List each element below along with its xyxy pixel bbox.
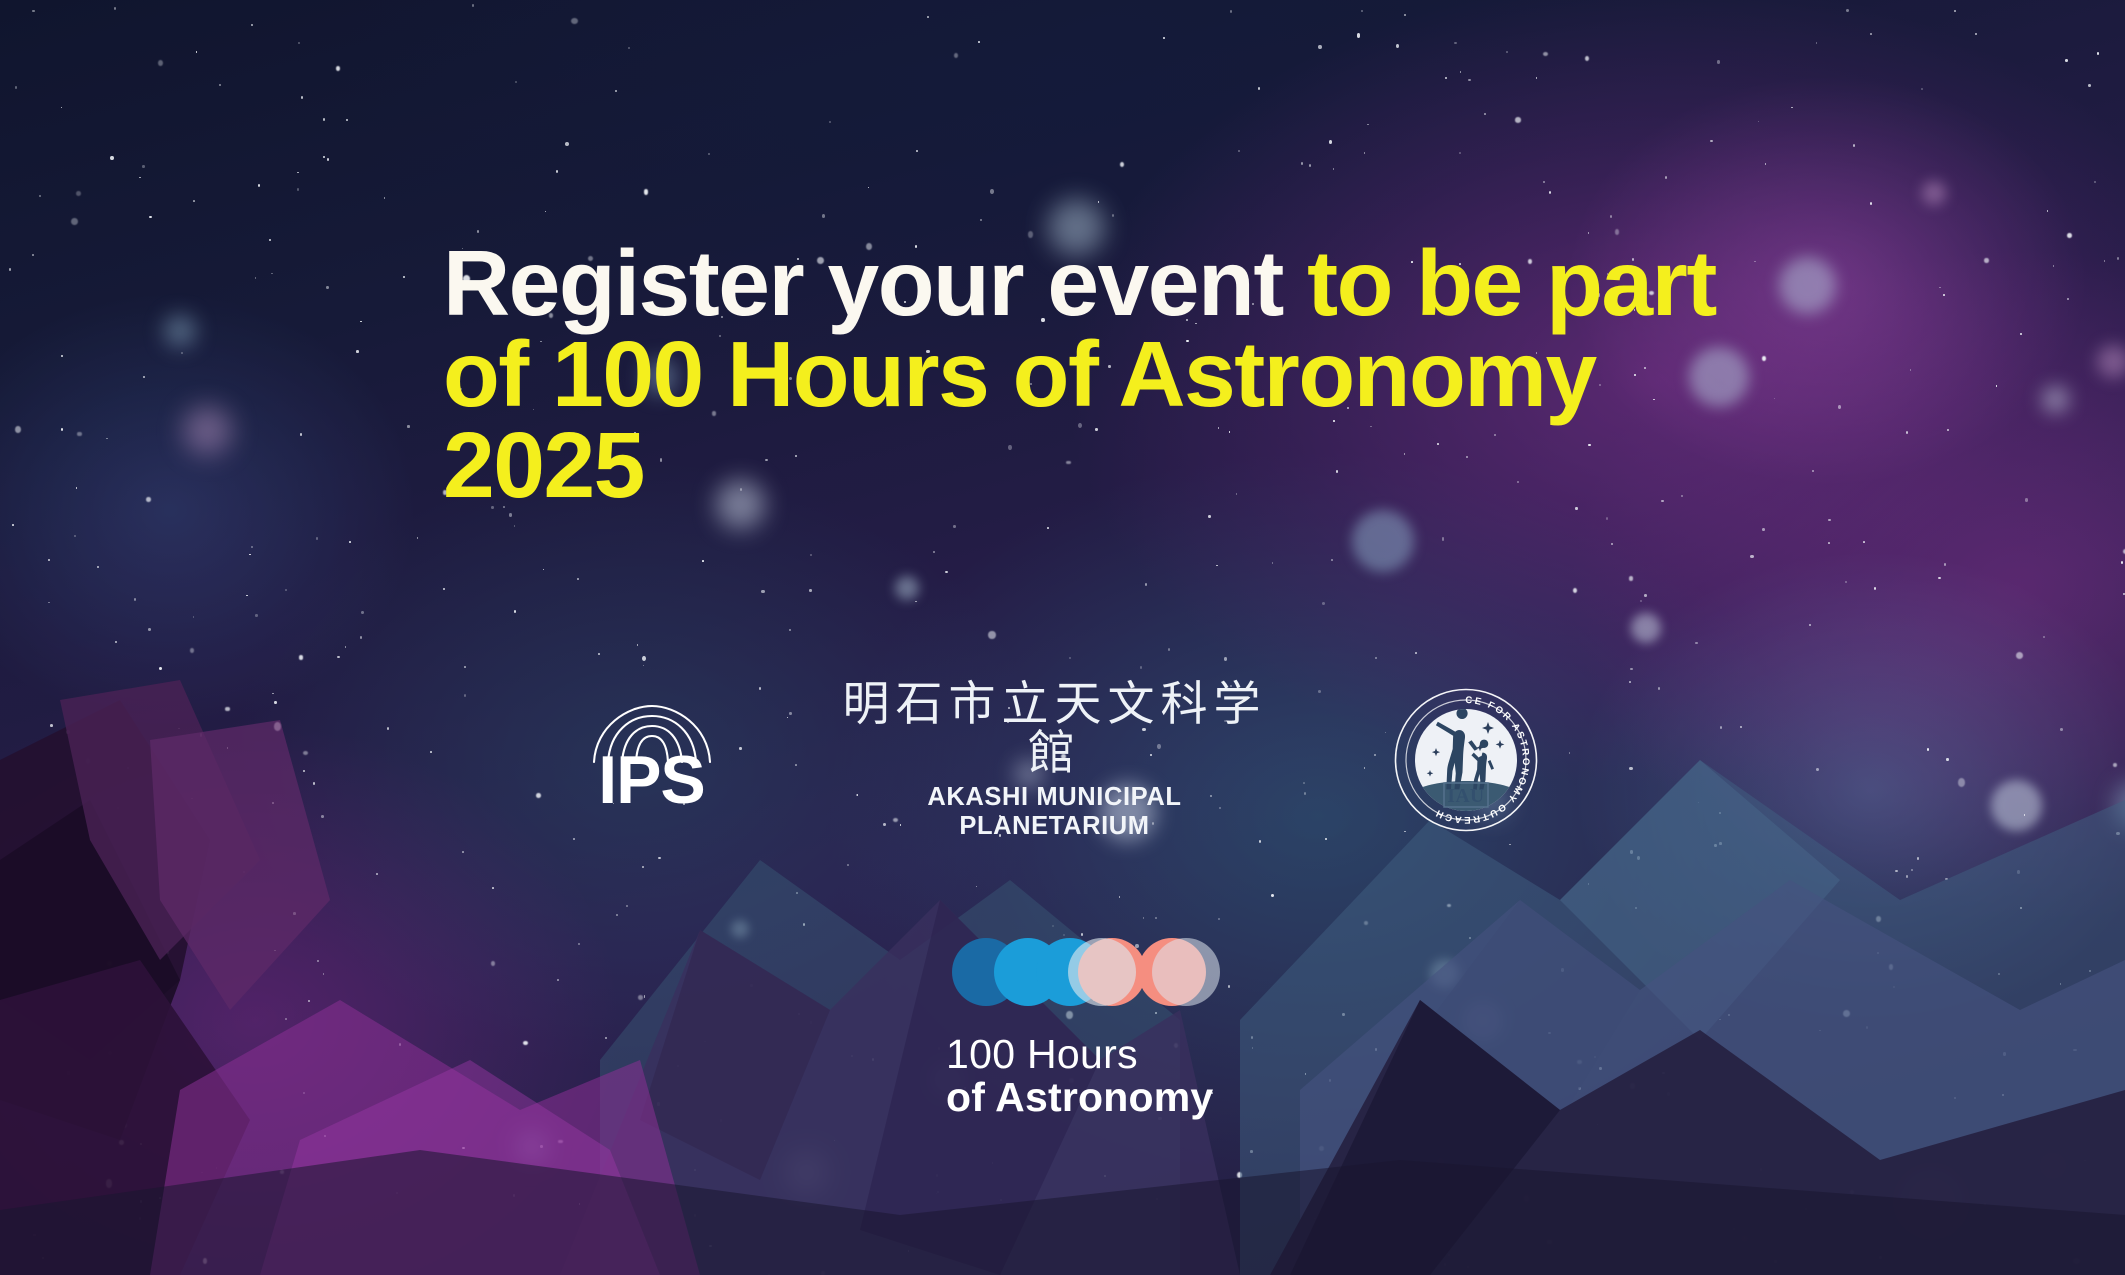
headline-line-2: of 100 Hours of Astronomy — [443, 329, 1763, 420]
dot-translucent-2 — [1152, 938, 1220, 1006]
poster-canvas: Register your event to be part of 100 Ho… — [0, 0, 2125, 1275]
logo-100-hours-of-astronomy: 100 Hours of Astronomy — [946, 938, 1246, 1120]
hoa-line-1: 100 Hours — [946, 1033, 1246, 1076]
headline: Register your event to be part of 100 Ho… — [443, 238, 1763, 511]
dot-translucent-1 — [1068, 938, 1136, 1006]
headline-line-1: Register your event to be part — [443, 238, 1763, 329]
hoa-line-2: of Astronomy — [946, 1076, 1246, 1119]
hoa-dot-cluster — [952, 938, 1202, 1006]
hoa-wordmark: 100 Hours of Astronomy — [946, 1033, 1246, 1120]
headline-white-text: Register your event — [443, 231, 1283, 335]
headline-line-3: 2025 — [443, 420, 1763, 511]
headline-yellow-text-1: to be part — [1283, 231, 1716, 335]
